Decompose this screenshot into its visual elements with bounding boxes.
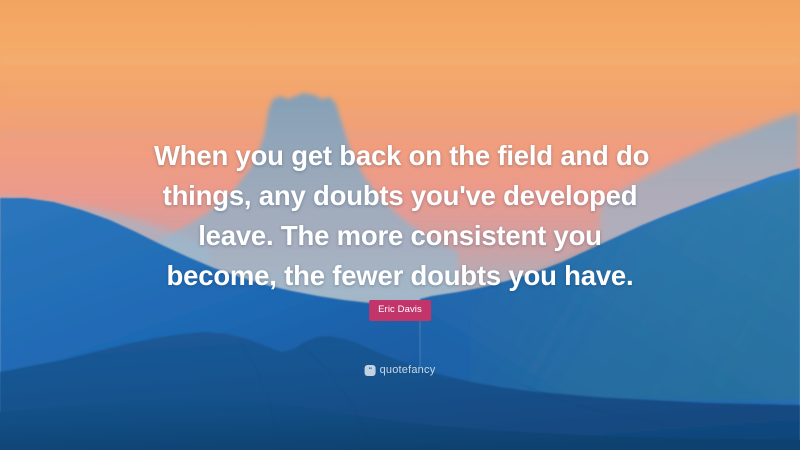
quote-text: When you get back on the field and do th… bbox=[154, 136, 646, 296]
quote-card: When you get back on the field and do th… bbox=[0, 0, 800, 450]
author-badge[interactable]: Eric Davis bbox=[369, 300, 431, 321]
quote-line-2: things, any doubts you've developed bbox=[154, 176, 646, 216]
quote-line-4: become, the fewer doubts you have. bbox=[154, 256, 646, 296]
quote-mark-icon: “ bbox=[365, 365, 376, 376]
quote-overlay: When you get back on the field and do th… bbox=[0, 0, 800, 450]
watermark-brand: quotefancy bbox=[380, 365, 436, 376]
quote-line-1: When you get back on the field and do bbox=[154, 136, 646, 176]
quotefancy-watermark[interactable]: “ quotefancy bbox=[365, 365, 436, 376]
quote-line-3: leave. The more consistent you bbox=[154, 216, 646, 256]
